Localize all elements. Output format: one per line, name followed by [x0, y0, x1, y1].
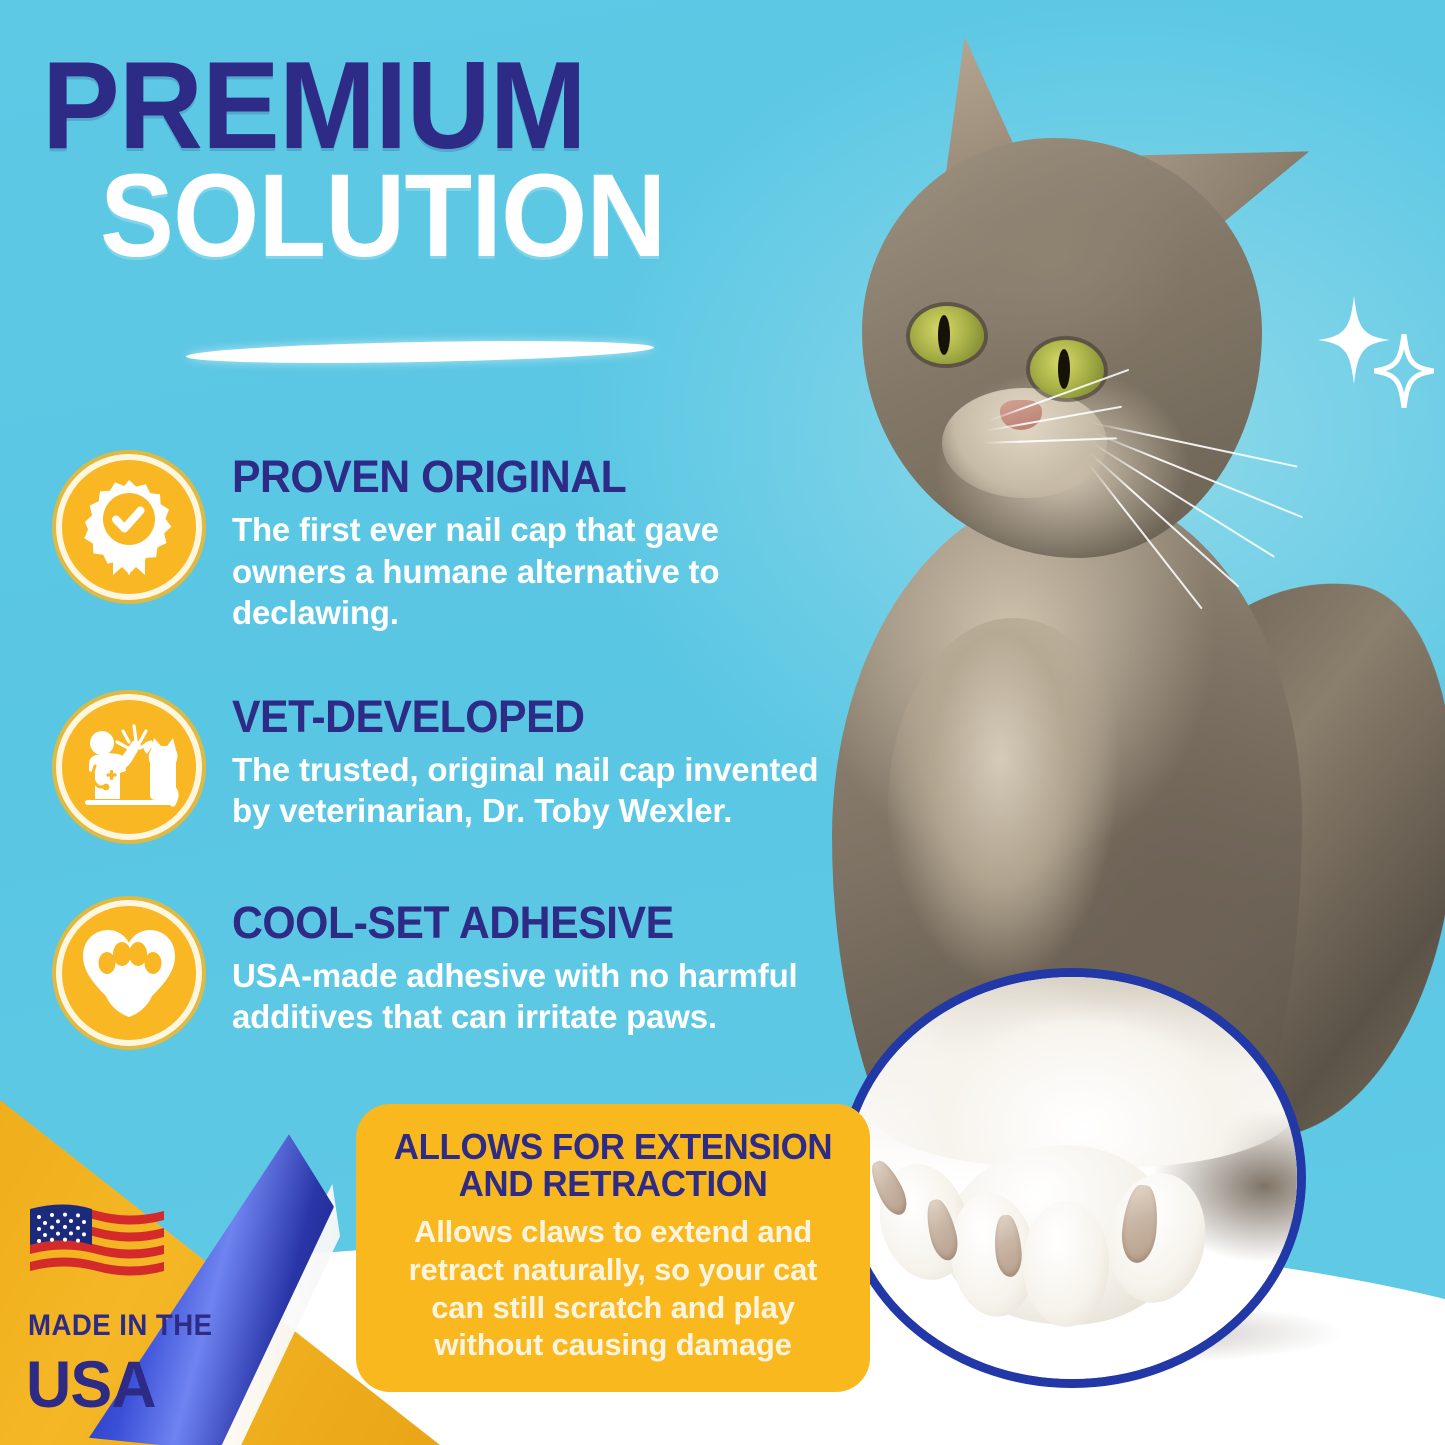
callout-title: ALLOWS FOR EXTENSION AND RETRACTION	[389, 1128, 837, 1203]
feature-item: COOL-SET ADHESIVE USA-made adhesive with…	[56, 894, 846, 1046]
feature-body: USA-made adhesive with no harmful additi…	[232, 955, 842, 1038]
feature-body: The first ever nail cap that gave owners…	[232, 509, 842, 634]
made-in-the-label: MADE IN THE	[28, 1311, 212, 1341]
cat-pupil-left	[938, 315, 950, 355]
feature-item: PROVEN ORIGINAL The first ever nail cap …	[56, 448, 846, 634]
feature-list: PROVEN ORIGINAL The first ever nail cap …	[56, 448, 846, 1100]
headline-line-1: PREMIUM	[42, 52, 794, 161]
product-infographic: PREMIUM SOLUTION	[0, 0, 1445, 1445]
feature-body: The trusted, original nail cap invented …	[232, 749, 842, 832]
feature-title: COOL-SET ADHESIVE	[232, 900, 812, 945]
vet-high-five-cat-icon-wrapper	[56, 694, 202, 840]
award-ribbon-icon	[83, 478, 175, 576]
usa-flag-icon	[30, 1203, 164, 1283]
award-ribbon-icon-wrapper	[56, 454, 202, 600]
headline-line-2: SOLUTION	[100, 165, 797, 269]
feature-title: PROVEN ORIGINAL	[232, 454, 812, 499]
heart-paw-icon	[81, 927, 177, 1019]
feature-text: VET-DEVELOPED The trusted, original nail…	[232, 688, 842, 832]
made-in-usa-corner: MADE IN THE USA	[0, 1100, 440, 1445]
paw-closeup-inset	[838, 968, 1306, 1388]
feature-title: VET-DEVELOPED	[232, 694, 812, 739]
heart-paw-icon-wrapper	[56, 900, 202, 1046]
paw-toe	[1023, 1201, 1109, 1327]
sparkle-icon	[1374, 334, 1434, 408]
cat-pupil-right	[1058, 349, 1070, 389]
vet-high-five-cat-icon	[79, 720, 179, 814]
feature-text: COOL-SET ADHESIVE USA-made adhesive with…	[232, 894, 842, 1038]
callout-body: Allows claws to extend and retract natur…	[382, 1213, 844, 1364]
feature-item: VET-DEVELOPED The trusted, original nail…	[56, 688, 846, 840]
feature-text: PROVEN ORIGINAL The first ever nail cap …	[232, 448, 842, 634]
usa-label: USA	[26, 1351, 156, 1417]
headline: PREMIUM SOLUTION	[42, 52, 842, 269]
